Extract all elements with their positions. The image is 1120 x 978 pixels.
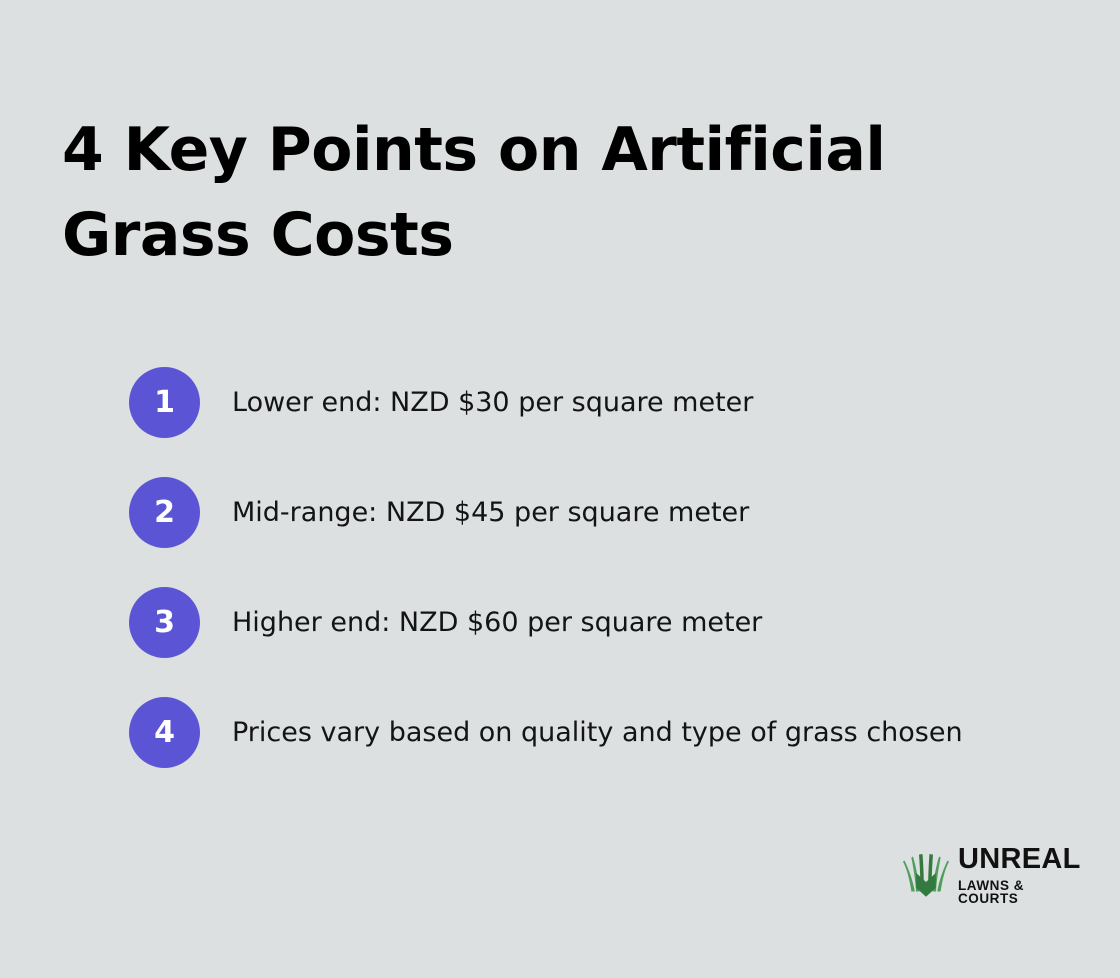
point-number-badge: 3 <box>129 587 200 658</box>
point-number-badge: 4 <box>129 697 200 768</box>
list-item: 4 Prices vary based on quality and type … <box>129 697 1059 807</box>
logo-wordmark: UNREAL LAWNS & COURTS <box>958 845 1081 906</box>
page-title: 4 Key Points on Artificial Grass Costs <box>62 108 1052 278</box>
list-item: 1 Lower end: NZD $30 per square meter <box>129 367 1059 477</box>
point-text: Higher end: NZD $60 per square meter <box>232 587 1059 640</box>
brand-logo: UNREAL LAWNS & COURTS <box>898 845 1060 905</box>
point-text: Mid-range: NZD $45 per square meter <box>232 477 1059 530</box>
point-number-badge: 2 <box>129 477 200 548</box>
infographic-canvas: 4 Key Points on Artificial Grass Costs 1… <box>0 0 1120 978</box>
point-number-badge: 1 <box>129 367 200 438</box>
list-item: 3 Higher end: NZD $60 per square meter <box>129 587 1059 697</box>
grass-blades-icon <box>898 847 954 903</box>
point-text: Lower end: NZD $30 per square meter <box>232 367 1059 420</box>
list-item: 2 Mid-range: NZD $45 per square meter <box>129 477 1059 587</box>
key-points-list: 1 Lower end: NZD $30 per square meter 2 … <box>129 367 1059 807</box>
point-text: Prices vary based on quality and type of… <box>232 697 1059 750</box>
logo-brand-name: UNREAL <box>958 845 1081 874</box>
logo-tagline: LAWNS & COURTS <box>958 879 1081 906</box>
